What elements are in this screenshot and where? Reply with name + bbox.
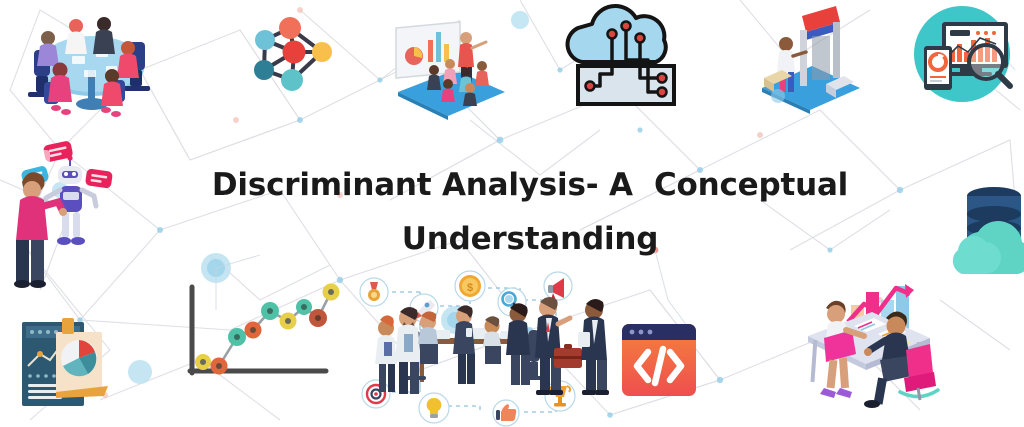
isometric-presentation-illustration xyxy=(396,22,505,120)
cloud-database-icon xyxy=(953,187,1024,274)
megaphone-icon xyxy=(544,272,572,300)
isometric-office-desk-illustration xyxy=(808,284,938,408)
human-robot-interaction-illustration xyxy=(14,140,113,288)
cloud-computing-icon xyxy=(568,6,674,104)
network-graph-icon xyxy=(254,17,332,91)
medal-icon xyxy=(360,278,388,306)
title-line-1: Discriminant Analysis- A Conceptual xyxy=(180,158,880,212)
thumbs-up-icon xyxy=(493,400,519,426)
line-chart-illustration xyxy=(190,284,340,375)
code-window-icon xyxy=(622,324,696,396)
chart-points xyxy=(195,284,340,375)
business-team-meeting-illustration: $ xyxy=(360,271,609,426)
banner-image: $ xyxy=(0,0,1024,427)
isometric-scanner-kiosk-illustration xyxy=(762,6,860,114)
title-line-2: Understanding xyxy=(180,212,880,266)
svg-text:$: $ xyxy=(467,282,473,294)
coin-dollar-icon: $ xyxy=(455,271,485,301)
page-title: Discriminant Analysis- A Conceptual Unde… xyxy=(180,158,880,266)
report-with-charts-illustration xyxy=(22,318,108,406)
data-analytics-dashboard-icon xyxy=(914,6,1010,102)
lightbulb-icon xyxy=(419,393,449,423)
isometric-team-meeting-illustration xyxy=(28,17,150,117)
